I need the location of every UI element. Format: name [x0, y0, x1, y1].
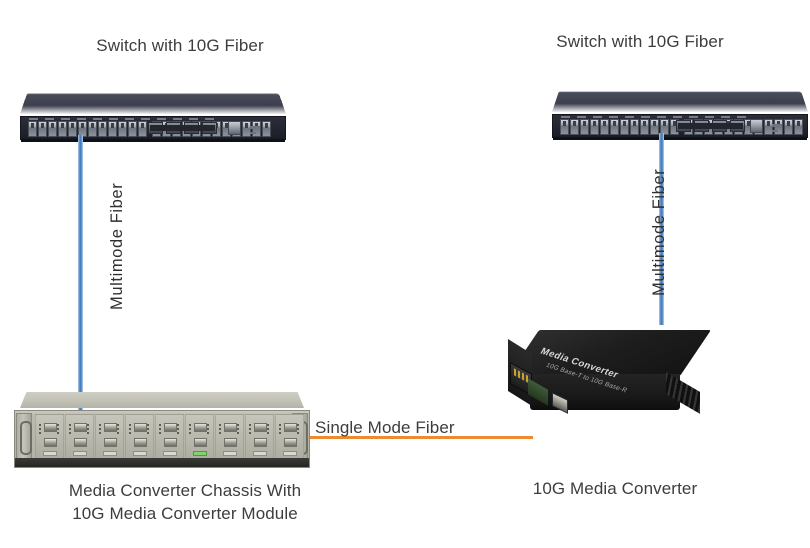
network-diagram-canvas: Switch with 10G Fiber [0, 0, 810, 548]
chassis-handle-icon [20, 421, 32, 455]
module-label-tag [103, 451, 117, 456]
module-fiber-port [74, 438, 87, 447]
converter-caption: 10G Media Converter [470, 479, 760, 499]
module-fiber-port [164, 438, 177, 447]
left-multimode-fiber-label: Multimode Fiber [108, 183, 127, 310]
module-led-group [207, 424, 210, 436]
left-switch-panel-mark [250, 126, 260, 129]
chassis-caption: Media Converter Chassis With 10G Media C… [30, 479, 340, 525]
rj45-port [764, 119, 773, 135]
rj45-port [68, 121, 77, 137]
sfp-cage [730, 120, 745, 132]
sfp-cage [202, 122, 217, 134]
module-led-group [279, 424, 282, 436]
module-led-group [147, 424, 150, 436]
module-led-group [129, 424, 132, 436]
right-switch-console-port [750, 119, 763, 133]
rj45-port [242, 121, 251, 137]
converter-module [245, 414, 274, 459]
chassis-top-surface [20, 392, 304, 408]
module-fiber-port [104, 423, 117, 432]
module-fiber-port [164, 423, 177, 432]
rj45-port [600, 119, 609, 135]
module-led-group [249, 424, 252, 436]
right-switch-sfp-cages [676, 120, 745, 132]
rj45-port [620, 119, 629, 135]
rj45-port [138, 121, 147, 137]
module-led-group [297, 424, 300, 436]
right-switch-panel-mark [772, 124, 782, 127]
right-switch-panel-mark [772, 130, 778, 132]
rj45-port [38, 121, 47, 137]
module-led-group [87, 424, 90, 436]
chassis-caption-line-2: 10G Media Converter Module [30, 502, 340, 525]
module-fiber-port [224, 438, 237, 447]
chassis-front-panel [14, 410, 310, 468]
rj45-port [784, 119, 793, 135]
module-fiber-port [194, 438, 207, 447]
rj45-port [650, 119, 659, 135]
module-label-tag [283, 451, 297, 456]
rj45-port [58, 121, 67, 137]
right-switch-title: Switch with 10G Fiber [500, 32, 780, 52]
module-led-group [219, 424, 222, 436]
rj45-port [98, 121, 107, 137]
converter-module [215, 414, 244, 459]
module-label-tag [133, 451, 147, 456]
module-label-tag [253, 451, 267, 456]
converter-module [185, 414, 214, 459]
rj45-port [118, 121, 127, 137]
module-fiber-port [284, 423, 297, 432]
converter-module [65, 414, 94, 459]
chassis-caption-line-1: Media Converter Chassis With [30, 479, 340, 502]
module-label-tag [223, 451, 237, 456]
module-label-tag [43, 451, 57, 456]
rj45-port [580, 119, 589, 135]
module-fiber-port [284, 438, 297, 447]
chassis-rack-ear-left [16, 413, 32, 461]
rj45-port [774, 119, 783, 135]
media-converter-chassis-device [14, 386, 310, 468]
converter-module [95, 414, 124, 459]
left-multimode-fiber-link [78, 135, 83, 417]
right-multimode-fiber-label: Multimode Fiber [650, 169, 669, 296]
module-fiber-port [224, 423, 237, 432]
module-fiber-port [134, 438, 147, 447]
module-led-group [189, 424, 192, 436]
left-switch-title: Switch with 10G Fiber [40, 36, 320, 56]
rj45-port [794, 119, 803, 135]
module-fiber-port [254, 423, 267, 432]
rj45-port [262, 121, 271, 137]
left-switch-console-port [228, 121, 241, 135]
right-switch-led-row [561, 116, 746, 118]
module-led-group [237, 424, 240, 436]
module-fiber-port [254, 438, 267, 447]
rj45-port [128, 121, 137, 137]
rj45-port [640, 119, 649, 135]
module-led-group [117, 424, 120, 436]
rj45-port [590, 119, 599, 135]
media-converter-device: Media Converter 10G Base-T to 10G Base-R [508, 330, 708, 440]
module-led-group [69, 424, 72, 436]
module-led-group [177, 424, 180, 436]
rj45-port [610, 119, 619, 135]
rj45-port [88, 121, 97, 137]
converter-module [275, 414, 304, 459]
single-mode-fiber-label: Single Mode Fiber [315, 418, 455, 438]
module-fiber-port [44, 423, 57, 432]
module-fiber-port [194, 423, 207, 432]
module-led-group [57, 424, 60, 436]
module-led-group [99, 424, 102, 436]
module-fiber-port [104, 438, 117, 447]
left-switch-rj45-bank-a [28, 121, 147, 137]
module-status-led [193, 451, 207, 456]
converter-module [155, 414, 184, 459]
module-led-group [159, 424, 162, 436]
left-switch-led-row [29, 118, 214, 120]
left-switch-panel-mark [250, 132, 256, 134]
rj45-port [28, 121, 37, 137]
rj45-port [570, 119, 579, 135]
right-switch-chassis-top [552, 92, 808, 112]
left-switch-sfp-cages [148, 122, 217, 134]
module-fiber-port [134, 423, 147, 432]
rj45-port [630, 119, 639, 135]
module-fiber-port [74, 423, 87, 432]
module-led-group [267, 424, 270, 436]
module-label-tag [73, 451, 87, 456]
module-label-tag [163, 451, 177, 456]
rj45-port [252, 121, 261, 137]
converter-module [35, 414, 64, 459]
module-led-group [39, 424, 42, 436]
chassis-module-bay [35, 414, 304, 459]
rj45-port [560, 119, 569, 135]
module-fiber-port [44, 438, 57, 447]
rj45-port [108, 121, 117, 137]
left-switch-chassis-top [20, 94, 286, 114]
converter-module [125, 414, 154, 459]
rj45-port [48, 121, 57, 137]
